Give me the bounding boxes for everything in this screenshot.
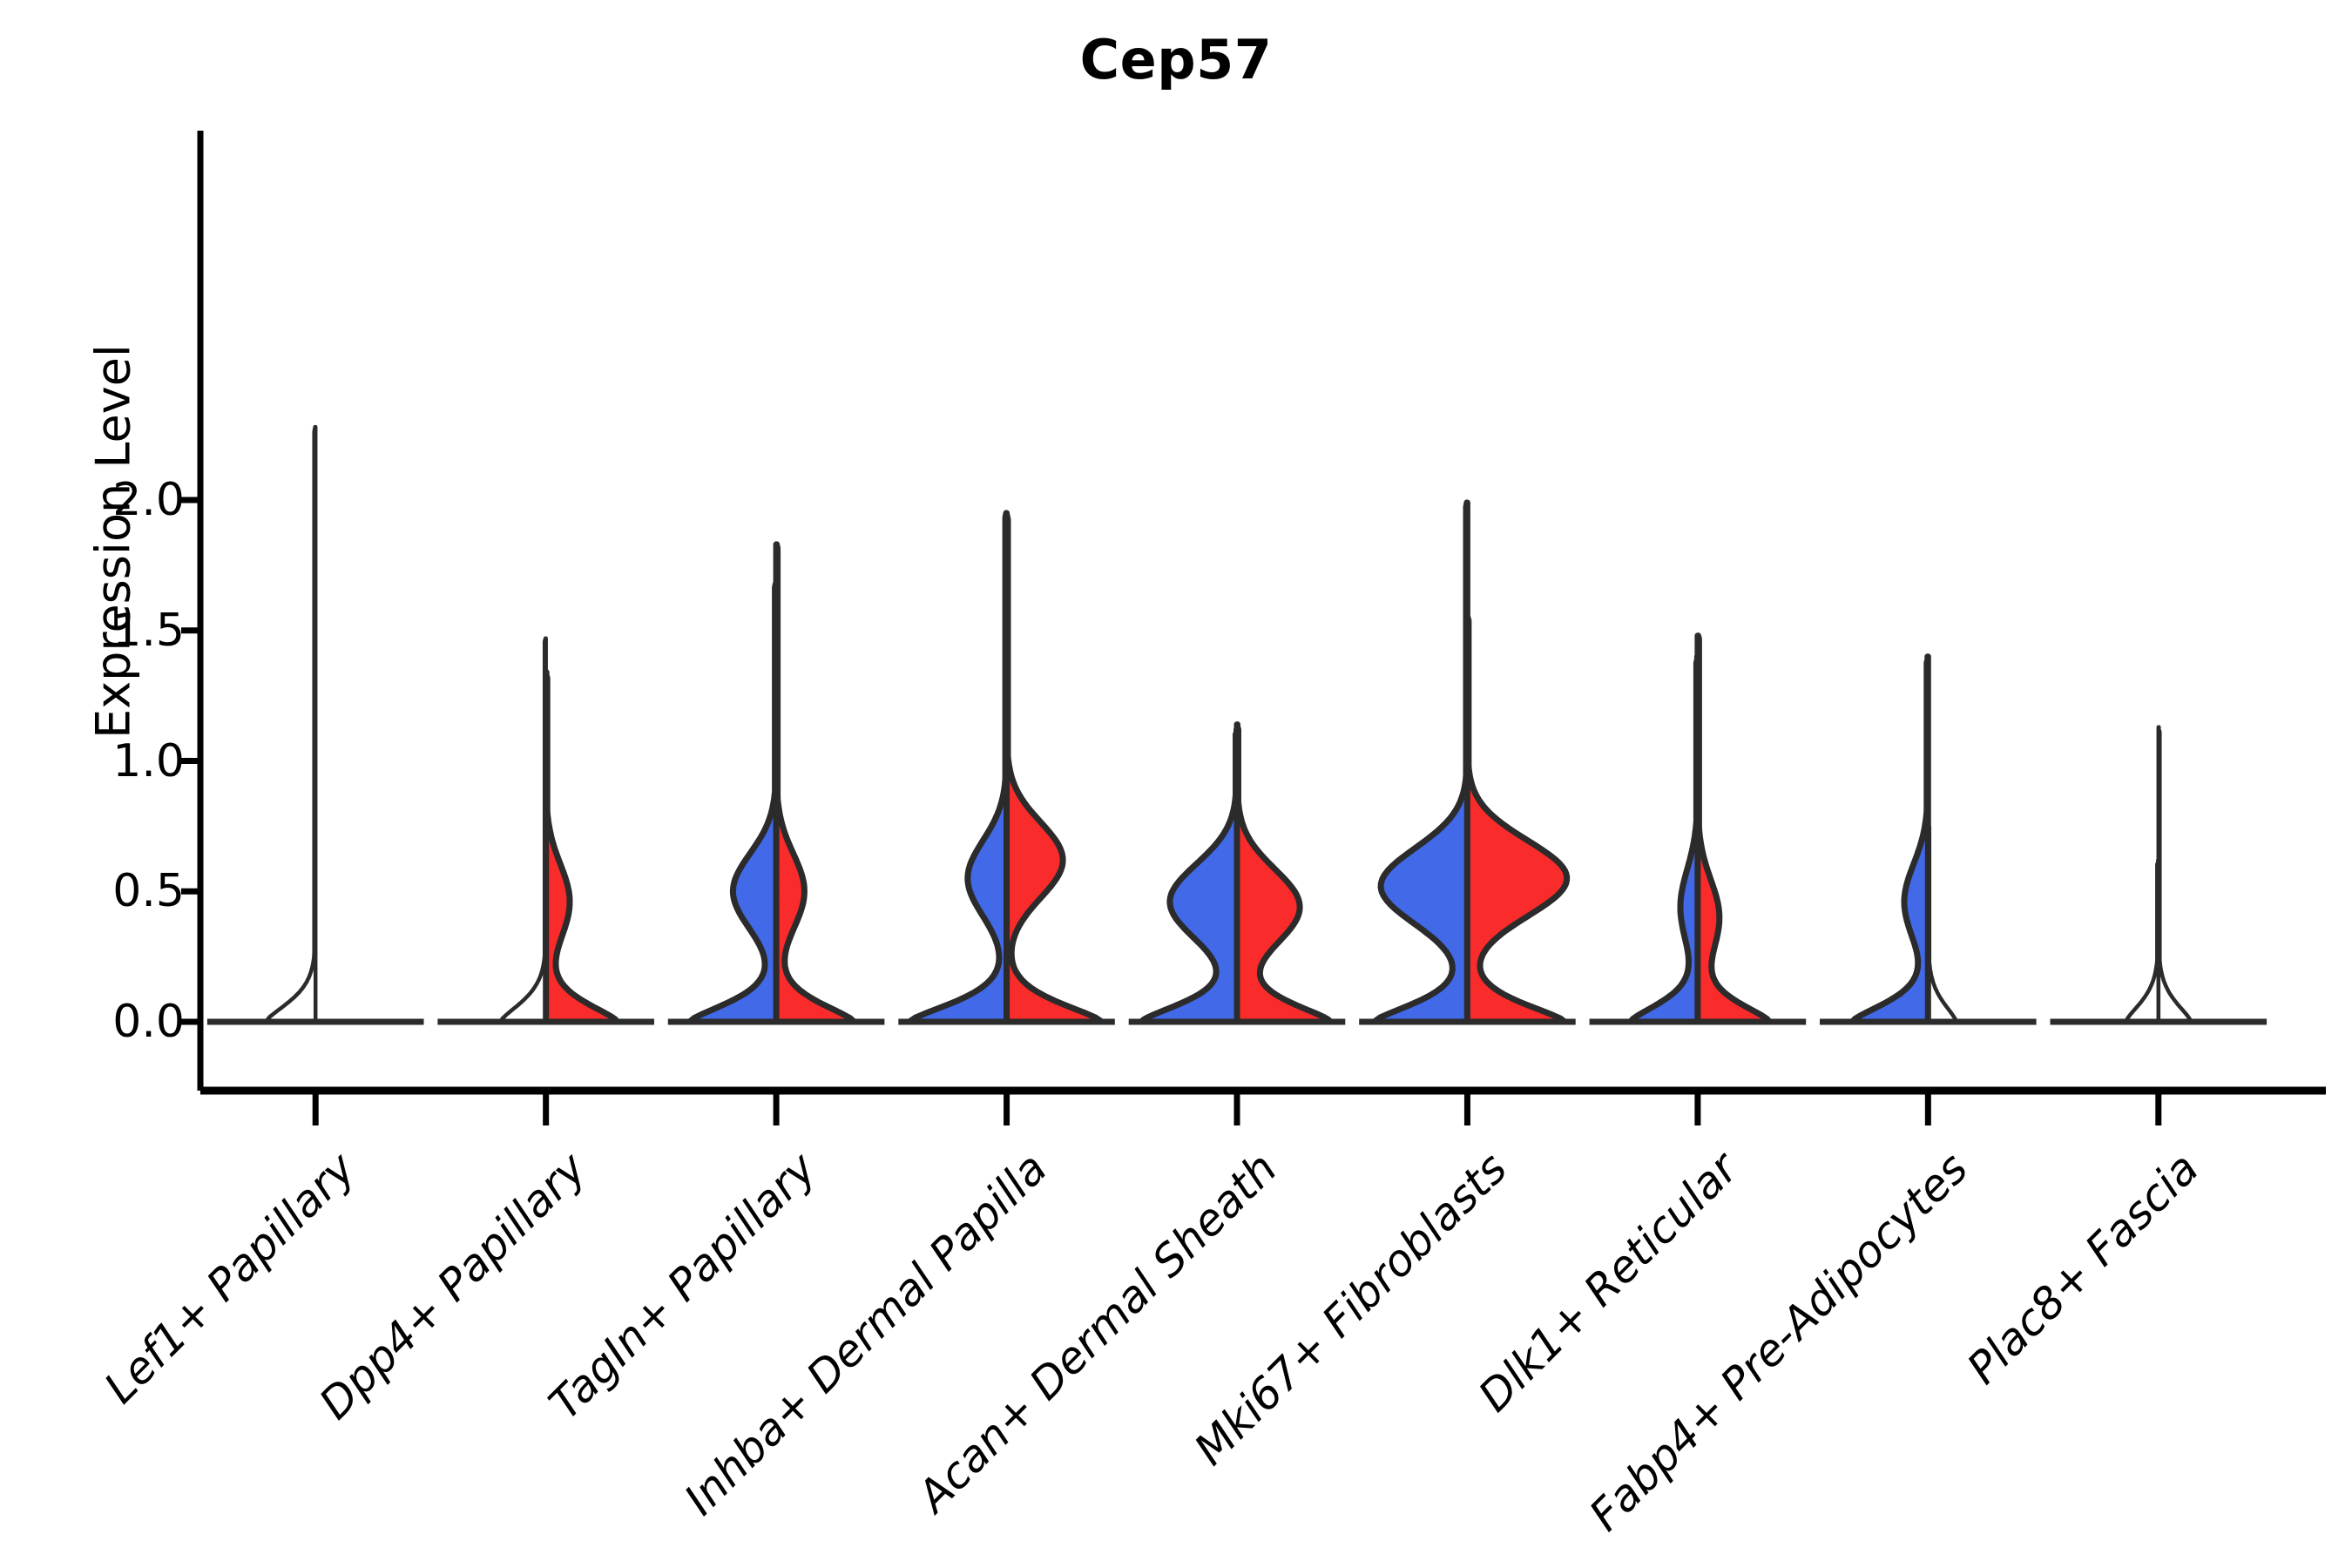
- x-tick-label-8: Plac8+ Fascia: [1957, 1143, 2208, 1394]
- x-tick-label-7: Fabp4+ Pre-Adipocytes: [1580, 1143, 1978, 1541]
- violin-plot-figure: Cep57 Expression Level 0.00.51.01.52.0 L…: [0, 0, 2352, 1568]
- x-axis-tick-labels: Lef1+ PapillaryDpp4+ PapillaryTagIn+ Pap…: [0, 0, 2352, 1568]
- x-tick-label-0: Lef1+ Papillary: [95, 1143, 365, 1413]
